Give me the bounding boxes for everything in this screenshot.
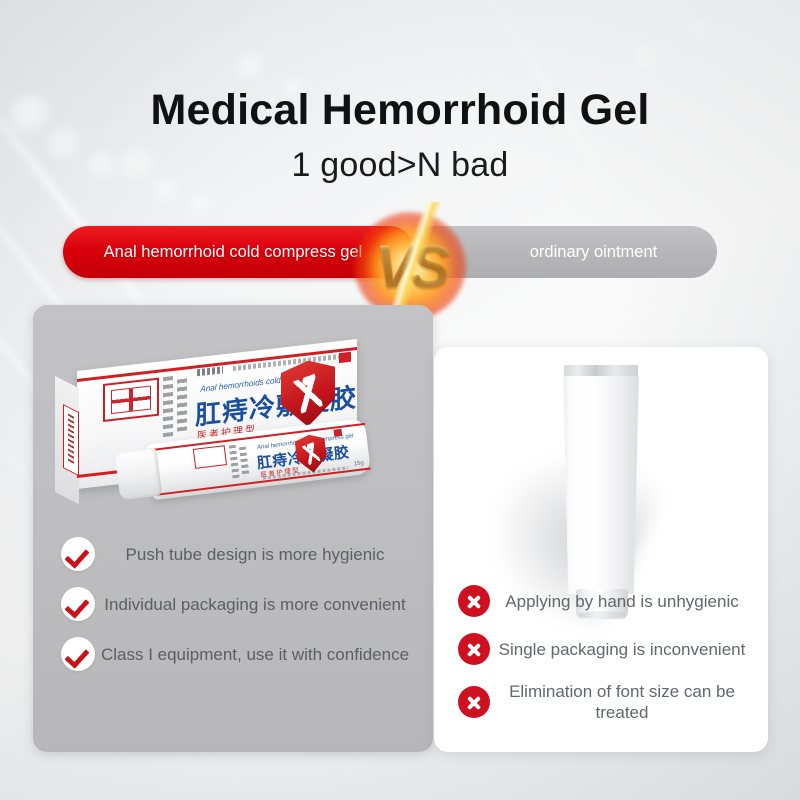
x-icon (458, 686, 490, 718)
check-icon (61, 587, 95, 621)
tube-corner-mark (333, 429, 342, 437)
comparison-bar: Anal hemorrhoid cold compress gel ordina… (0, 222, 800, 292)
branded-product-image: Anal hemorrhoids cold compress gel 肛痔冷敷凝… (55, 347, 415, 517)
list-item: Elimination of font size can be treated (434, 681, 768, 723)
page-subtitle: 1 good>N bad (0, 146, 800, 185)
x-icon (458, 585, 490, 617)
right-comparison-panel: Applying by hand is unhygienic Single pa… (434, 347, 768, 752)
list-item: Class I equipment, use it with confidenc… (33, 637, 433, 671)
product-comparison-poster: Medical Hemorrhoid Gel 1 good>N bad Anal… (0, 0, 800, 800)
list-item-label: Push tube design is more hygienic (95, 544, 433, 565)
box-emblem-icon (103, 378, 159, 422)
runner-icon (293, 374, 323, 414)
list-item: Single packaging is inconvenient (434, 633, 768, 665)
plain-tube-body (558, 376, 644, 594)
box-corner-mark (339, 352, 351, 363)
tube-vertical-text (229, 445, 240, 480)
x-icon (458, 633, 490, 665)
check-icon (61, 637, 95, 671)
tube-net-weight: 15g (354, 460, 365, 467)
box-vertical-text-secondary (177, 378, 187, 431)
brand-mark (197, 366, 223, 376)
page-title: Medical Hemorrhoid Gel (0, 86, 800, 135)
list-item-label: Individual packaging is more convenient (95, 594, 433, 615)
list-item-label: Single packaging is inconvenient (490, 639, 768, 660)
product-box-side-face (55, 376, 79, 504)
list-item: Individual packaging is more convenient (33, 587, 433, 621)
tube-vertical-text-secondary (239, 447, 249, 476)
list-item: Applying by hand is unhygienic (434, 585, 768, 617)
list-item-label: Applying by hand is unhygienic (490, 591, 768, 612)
box-vertical-text (163, 376, 173, 437)
tube-runner-icon (302, 442, 320, 465)
disadvantages-list: Applying by hand is unhygienic Single pa… (434, 585, 768, 739)
list-item-label: Elimination of font size can be treated (490, 681, 768, 723)
list-item-label: Class I equipment, use it with confidenc… (95, 644, 433, 665)
left-product-panel: Anal hemorrhoids cold compress gel 肛痔冷敷凝… (33, 305, 433, 752)
box-side-emblem-icon (63, 404, 79, 476)
product-tube-cap (115, 447, 163, 500)
tube-emblem-icon (193, 445, 227, 469)
list-item: Push tube design is more hygienic (33, 537, 433, 571)
check-icon (61, 537, 95, 571)
advantages-list: Push tube design is more hygienic Indivi… (33, 537, 433, 687)
